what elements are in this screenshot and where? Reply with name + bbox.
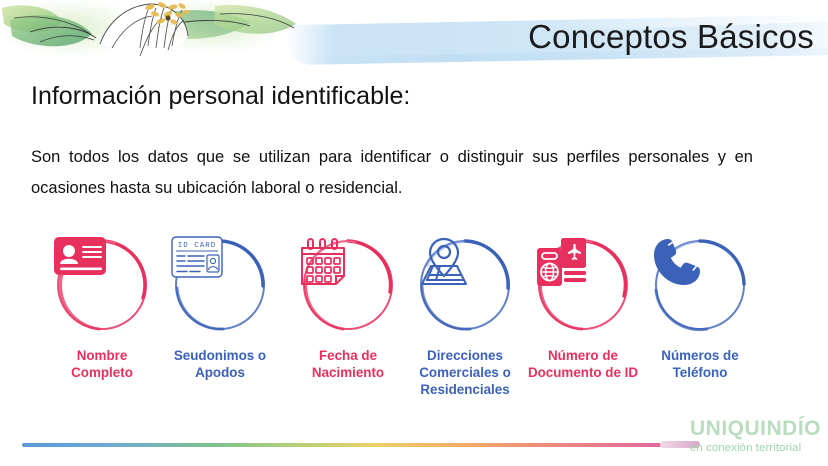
caption-line-3: Residenciales	[390, 381, 540, 398]
telephone-handset-icon	[651, 236, 749, 334]
pii-item-telefono[interactable]: Números de Teléfono	[625, 236, 775, 381]
header-flower-artwork	[0, 0, 300, 70]
circle-ring-blue	[651, 236, 749, 334]
body-paragraph: Son todos los datos que se utilizan para…	[31, 142, 753, 204]
id-card-outline-icon: ID CARD	[171, 236, 269, 334]
uniquindio-logo: UNIQUINDÍO en conexión territorial	[690, 418, 822, 455]
pii-icon-row: Nombre Completo ID CARD	[0, 236, 828, 416]
circle-ring-blue: ID CARD	[171, 236, 269, 334]
caption-line-2: Teléfono	[625, 364, 775, 381]
section-subtitle: Información personal identificable:	[31, 82, 410, 111]
circle-ring-pink	[534, 236, 632, 334]
footer-gradient-line	[22, 443, 662, 447]
pii-caption: Números de Teléfono	[625, 347, 775, 381]
passport-boarding-pass-icon	[534, 236, 632, 334]
calendar-icon	[299, 236, 397, 334]
id-card-person-icon	[53, 236, 151, 334]
circle-ring-blue	[416, 236, 514, 334]
logo-wordmark: UNIQUINDÍO	[690, 418, 822, 440]
slide-header: Conceptos Básicos	[0, 0, 828, 70]
page-title: Conceptos Básicos	[528, 18, 814, 56]
caption-line-1: Números de	[625, 347, 775, 364]
circle-ring-pink	[53, 236, 151, 334]
logo-tagline: en conexión territorial	[690, 441, 822, 455]
map-location-pin-icon	[416, 236, 514, 334]
svg-text:ID CARD: ID CARD	[178, 242, 217, 250]
circle-ring-pink	[299, 236, 397, 334]
